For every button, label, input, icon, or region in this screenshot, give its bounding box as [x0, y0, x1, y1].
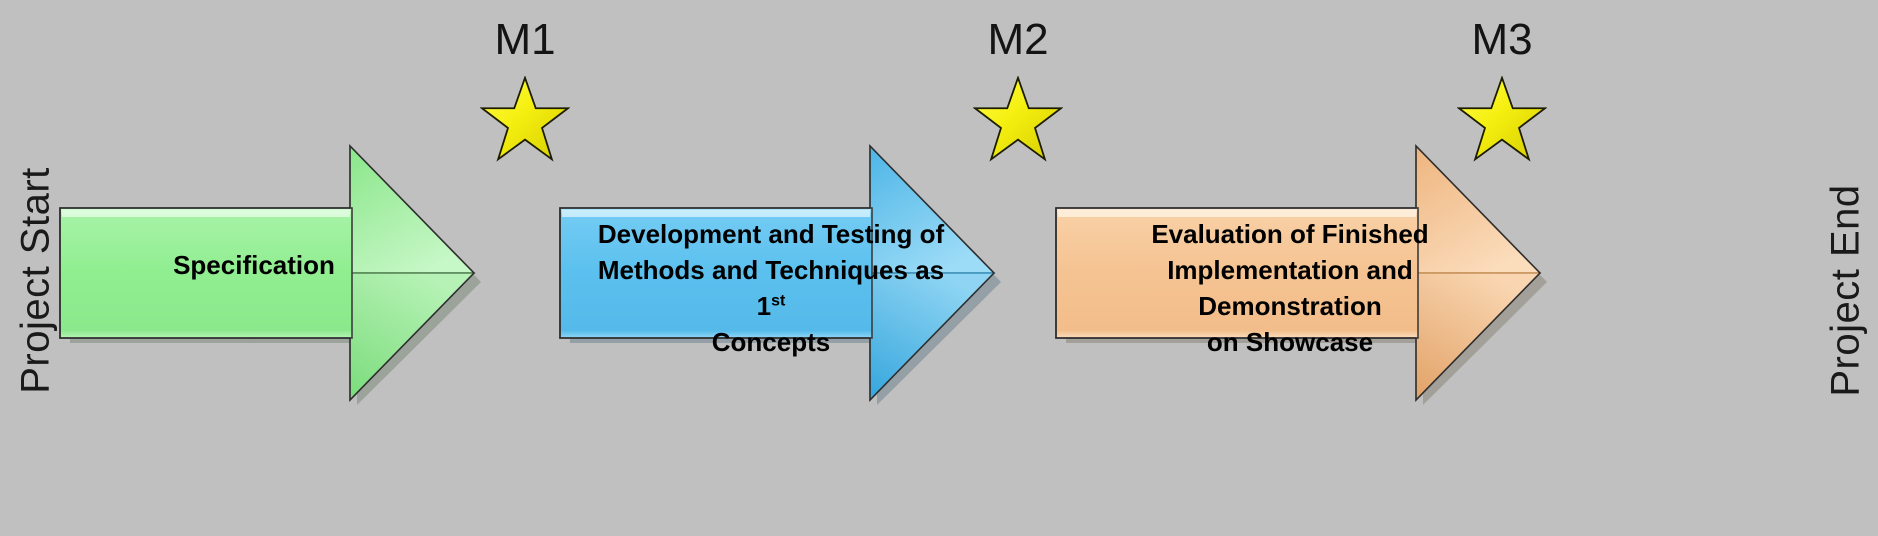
milestone-m2-label: M2	[958, 18, 1078, 62]
arrow-shape-blue	[556, 142, 996, 404]
milestone-m1[interactable]: M1	[465, 18, 585, 162]
diagram-canvas: Project Start M1 M2	[0, 0, 1878, 536]
phase-arrow-evaluation[interactable]: Evaluation of Finished Implementation an…	[1052, 142, 1542, 404]
phase-arrow-development[interactable]: Development and Testing of Methods and T…	[556, 142, 996, 404]
phase-arrow-specification[interactable]: Specification	[56, 142, 476, 404]
arrow-shape-orange	[1052, 142, 1542, 404]
project-start-label: Project Start	[14, 141, 59, 421]
project-end-label: Project End	[1824, 151, 1869, 431]
arrow-shape-green	[56, 142, 476, 404]
milestone-m2[interactable]: M2	[958, 18, 1078, 162]
milestone-m1-label: M1	[465, 18, 585, 62]
milestone-m3[interactable]: M3	[1442, 18, 1562, 162]
milestone-m3-label: M3	[1442, 18, 1562, 62]
